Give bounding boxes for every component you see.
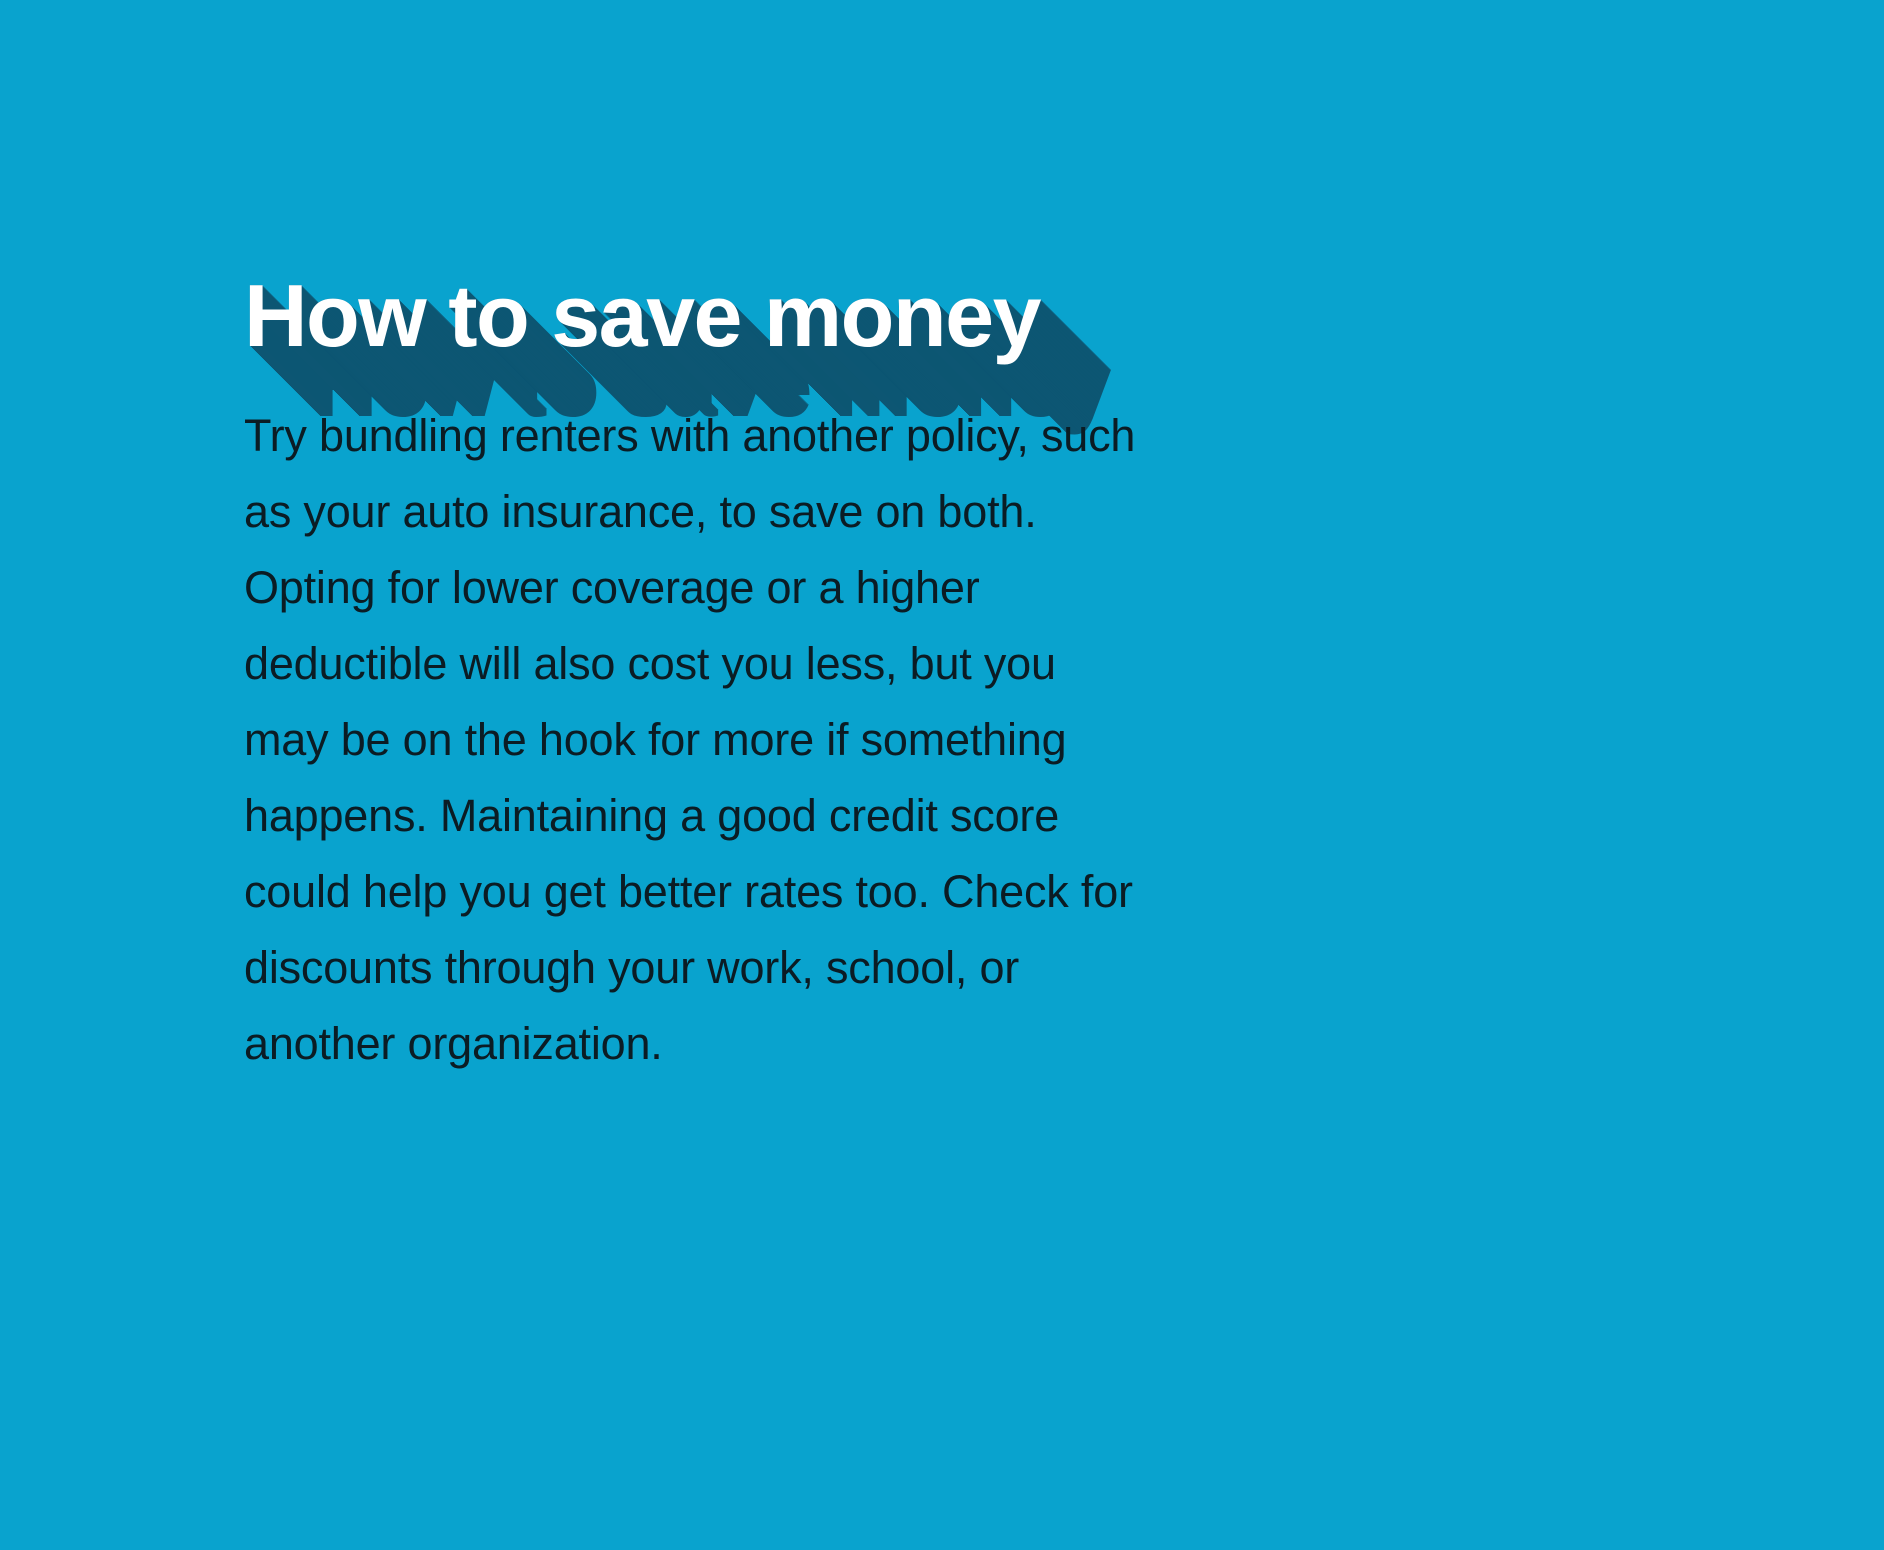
body-line: happens. Maintaining a good credit score: [244, 778, 1349, 854]
body-line: Try bundling renters with another policy…: [244, 398, 1349, 474]
page-title-text: How to save money: [244, 262, 1040, 370]
body-line: as your auto insurance, to save on both.: [244, 474, 1349, 550]
body-line: could help you get better rates too. Che…: [244, 854, 1349, 930]
body-line: discounts through your work, school, or: [244, 930, 1349, 1006]
body-paragraph: Try bundling renters with another policy…: [244, 398, 1349, 1082]
page-title: How to save money How to save money: [244, 262, 1364, 382]
info-card: How to save money How to save money Try …: [0, 0, 1884, 1550]
body-line: deductible will also cost you less, but …: [244, 626, 1349, 702]
body-line: may be on the hook for more if something: [244, 702, 1349, 778]
body-line: Opting for lower coverage or a higher: [244, 550, 1349, 626]
card-content: How to save money How to save money: [244, 262, 1364, 382]
body-line: another organization.: [244, 1006, 1349, 1082]
